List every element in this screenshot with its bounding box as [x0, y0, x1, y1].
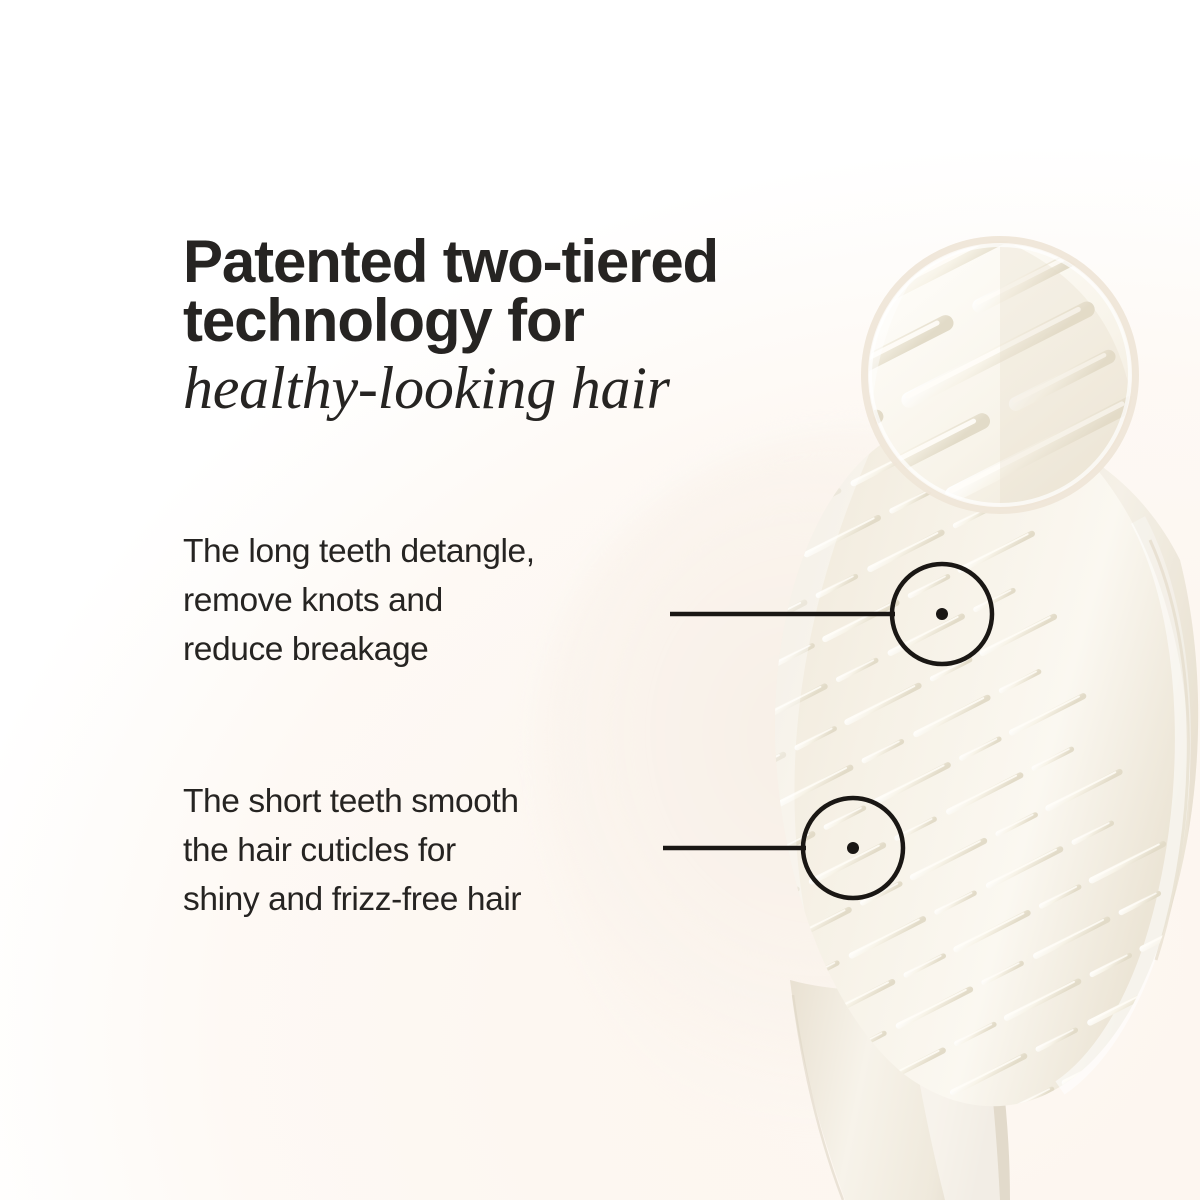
callout-layer	[0, 0, 1200, 1200]
callout-dot-short-teeth	[847, 842, 859, 854]
callout-short-teeth	[663, 798, 903, 898]
callout-dot-long-teeth	[936, 608, 948, 620]
promo-graphic: Patented two-tiered technology for healt…	[0, 0, 1200, 1200]
callout-long-teeth	[670, 564, 992, 664]
